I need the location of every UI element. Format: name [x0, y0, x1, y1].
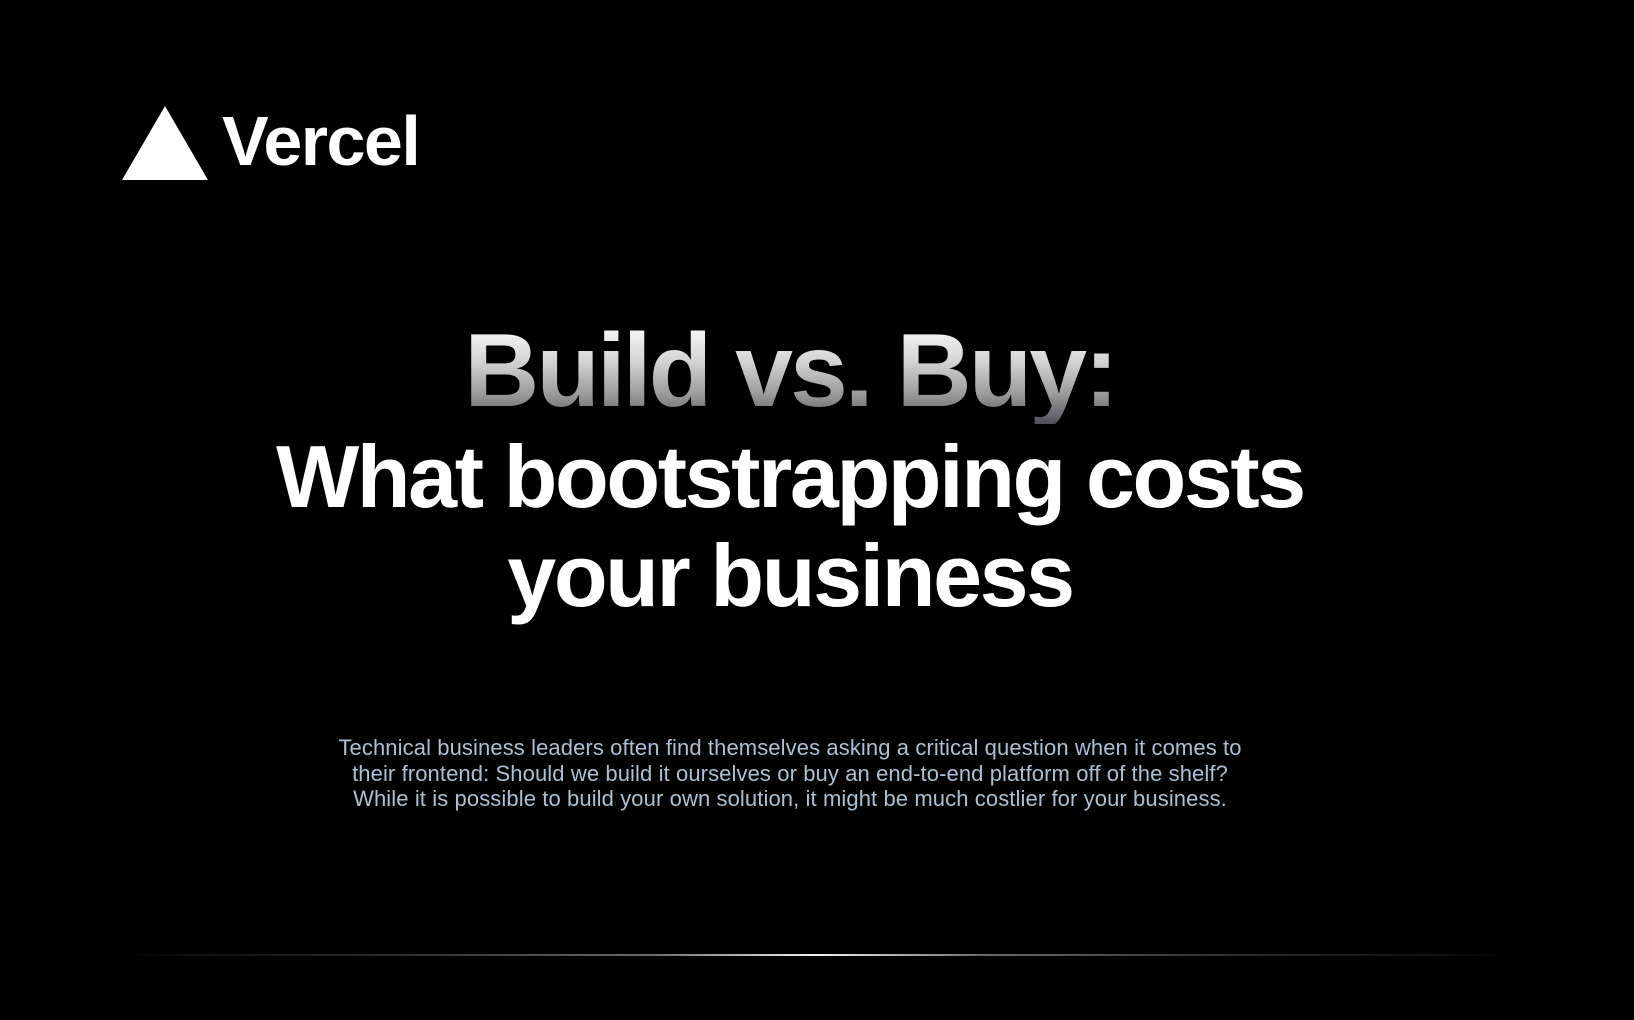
lede-text: Technical business leaders often find th… [270, 735, 1310, 812]
brand-name: Vercel [222, 106, 419, 180]
brand-logo[interactable]: Vercel [122, 100, 419, 186]
vercel-triangle-icon [122, 106, 208, 180]
headline-main-line-1: What bootstrapping costs [260, 424, 1320, 523]
lede-line-2: their frontend: Should we build it ourse… [270, 761, 1310, 787]
lede-line-3: While it is possible to build your own s… [270, 786, 1310, 812]
section-divider [130, 954, 1505, 956]
page-title: Build vs. Buy: What bootstrapping costs … [0, 318, 1580, 623]
headline-main-line-2: your business [260, 523, 1320, 622]
slide-root: Vercel Build vs. Buy: What bootstrapping… [0, 0, 1634, 1020]
lede-paragraph: Technical business leaders often find th… [0, 735, 1580, 812]
headline-gradient-line: Build vs. Buy: [0, 318, 1580, 424]
lede-line-1: Technical business leaders often find th… [270, 735, 1310, 761]
